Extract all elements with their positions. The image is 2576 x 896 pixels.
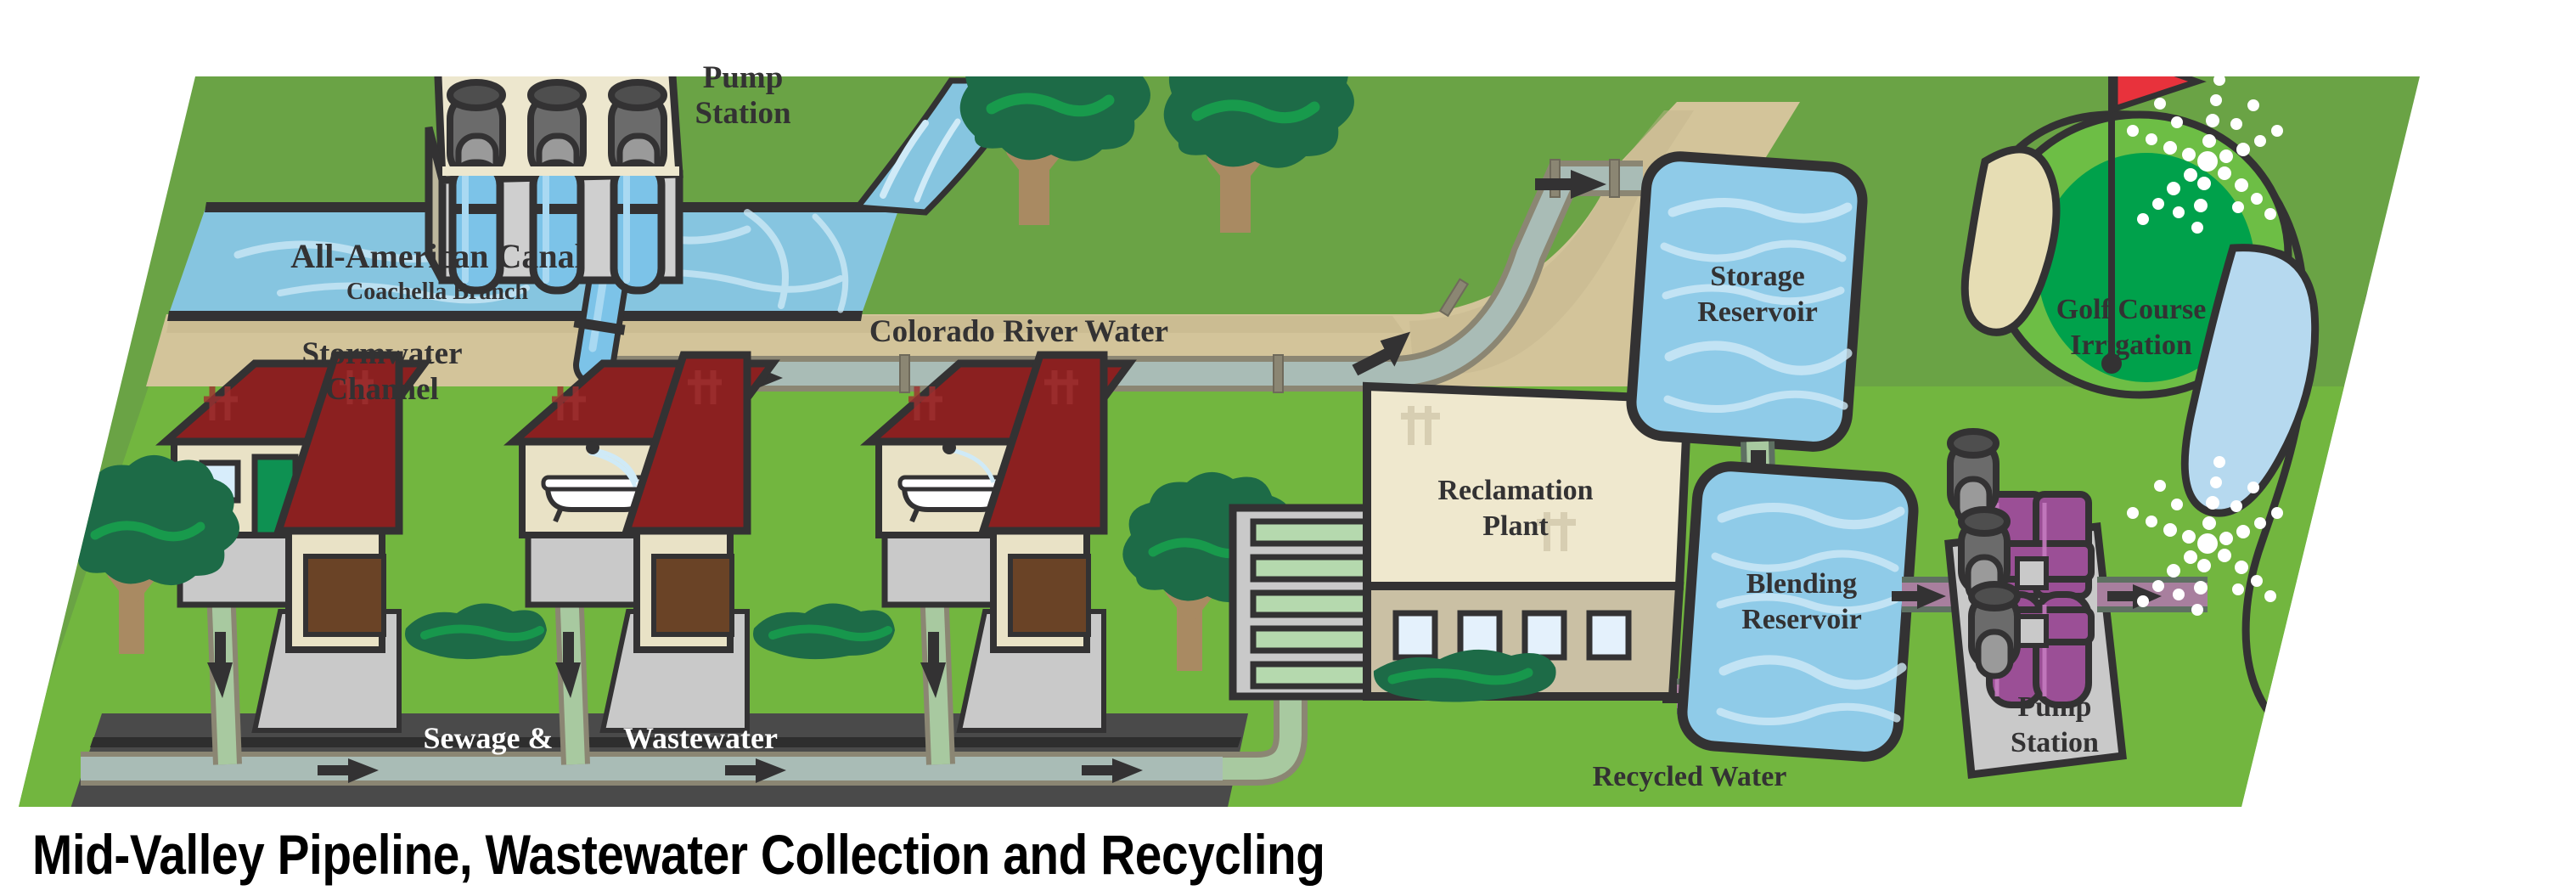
sprinkler-3 <box>2288 566 2444 726</box>
label-stormwater-2: Channel <box>325 372 439 407</box>
label-pump-station-right-2: Station <box>2011 727 2099 758</box>
label-reclamation-2: Plant <box>1482 510 1549 542</box>
label-storage-2: Reservoir <box>1697 296 1818 328</box>
label-pump-station-left-1: Pump <box>703 60 784 95</box>
label-sewage-a: Sewage & <box>424 721 554 755</box>
label-sewage-b: Wastewater <box>623 721 778 755</box>
label-blending-2: Reservoir <box>1741 604 1862 635</box>
label-recycled-water: Recycled Water <box>1593 761 1787 792</box>
label-reclamation-1: Reclamation <box>1437 475 1593 506</box>
label-golf-2: Irrigation <box>2070 330 2192 361</box>
label-colorado-river-water: Colorado River Water <box>869 314 1168 349</box>
diagram-canvas: All-American Canal Coachella Branch Pump… <box>0 0 2576 896</box>
pipeline-illustration: All-American Canal Coachella Branch Pump… <box>0 0 2576 896</box>
label-canal: All-American Canal <box>290 237 584 275</box>
house-group <box>166 355 1129 764</box>
label-blending-1: Blending <box>1746 568 1857 600</box>
label-pump-station-right-1: Pump <box>2018 691 2092 723</box>
label-storage-1: Storage <box>1710 261 1804 292</box>
diagram-title: Mid-Valley Pipeline, Wastewater Collecti… <box>32 822 1639 887</box>
label-canal-sub: Coachella Branch <box>346 279 528 305</box>
label-pump-station-left-2: Station <box>695 96 791 131</box>
label-golf-1: Golf Course <box>2056 294 2207 325</box>
label-stormwater-1: Stormwater <box>301 336 462 371</box>
reclamation-plant <box>1367 386 1688 702</box>
